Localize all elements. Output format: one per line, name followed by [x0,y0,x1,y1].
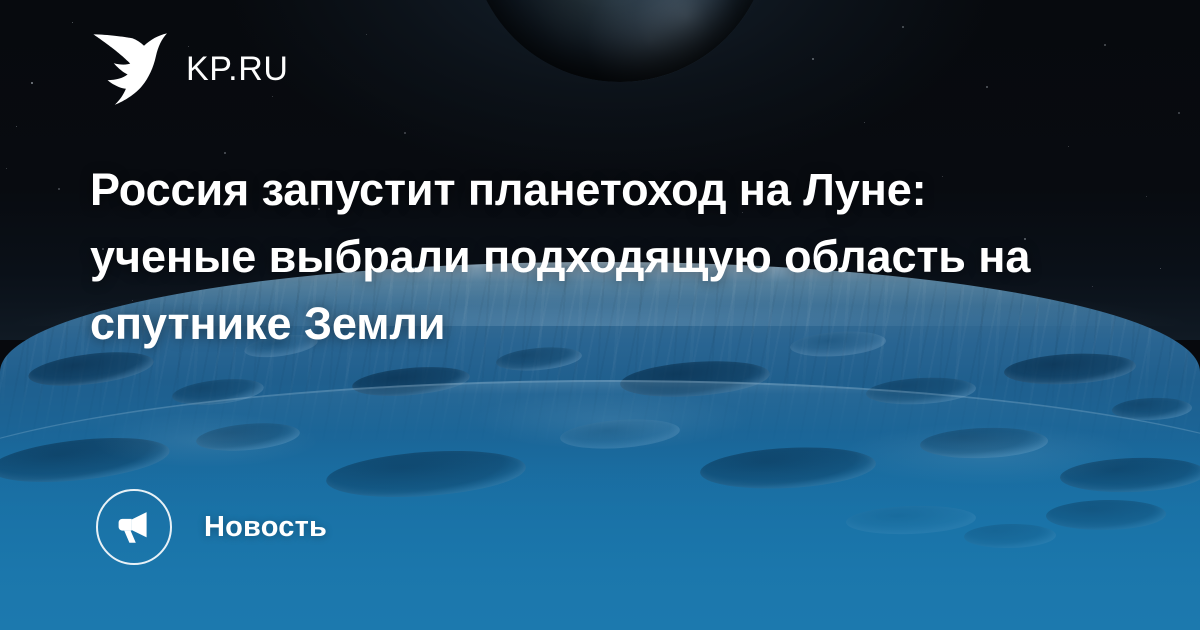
brand-name: KP.RU [186,52,289,86]
earth-planet [470,0,770,82]
brand-logo-group[interactable]: KP.RU [92,32,289,106]
news-share-card: KP.RU Россия запустит планетоход на Луне… [0,0,1200,630]
status-badge: Новость [96,489,327,565]
megaphone-icon [96,489,172,565]
page-title: Россия запустит планетоход на Луне: учен… [90,156,1090,357]
swallow-bird-icon [92,32,168,106]
status-badge-label: Новость [204,513,327,542]
